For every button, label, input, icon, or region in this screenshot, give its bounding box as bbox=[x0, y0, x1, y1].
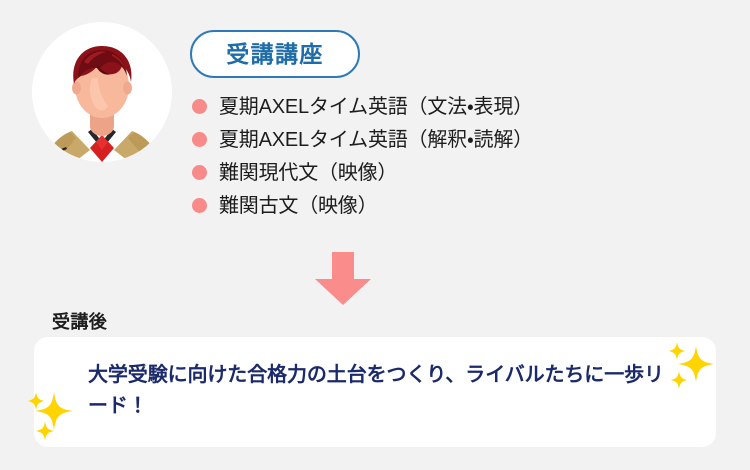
list-item: 夏期AXELタイム英語（文法・表現） bbox=[192, 90, 533, 123]
avatar-circle bbox=[32, 22, 172, 162]
list-item: 難関古文（映像） bbox=[192, 189, 533, 222]
section-badge: 受講講座 bbox=[190, 30, 360, 78]
sparkle-small-icon bbox=[28, 392, 44, 410]
course-label: 夏期AXELタイム英語（解釈・読解） bbox=[219, 130, 533, 150]
course-list: 夏期AXELタイム英語（文法・表現） 夏期AXELタイム英語（解釈・読解） 難関… bbox=[192, 90, 533, 222]
down-arrow-icon bbox=[313, 252, 373, 306]
bullet-dot-icon bbox=[192, 198, 207, 213]
after-card-text: 大学受験に向けた合格力の土台をつくり、ライバルたちに一歩リード！ bbox=[88, 360, 668, 422]
bullet-dot-icon bbox=[192, 99, 207, 114]
student-avatar-illustration bbox=[32, 22, 172, 162]
course-label: 夏期AXELタイム英語（文法・表現） bbox=[219, 97, 533, 117]
list-item: 夏期AXELタイム英語（解釈・読解） bbox=[192, 123, 533, 156]
avatar bbox=[32, 22, 172, 162]
infographic-root: 受講講座 夏期AXELタイム英語（文法・表現） 夏期AXELタイム英語（解釈・読… bbox=[0, 0, 750, 470]
sparkle-small-icon bbox=[36, 421, 54, 441]
section-badge-label: 受講講座 bbox=[226, 43, 324, 66]
after-section-label: 受講後 bbox=[52, 313, 107, 331]
sparkle-cluster-left bbox=[28, 388, 88, 448]
sparkle-small-icon bbox=[671, 371, 687, 389]
sparkle-small-icon bbox=[669, 342, 685, 360]
bullet-dot-icon bbox=[192, 132, 207, 147]
course-label: 難関現代文（映像） bbox=[219, 163, 397, 183]
sparkle-cluster-right bbox=[664, 340, 720, 396]
course-label: 難関古文（映像） bbox=[219, 196, 377, 216]
list-item: 難関現代文（映像） bbox=[192, 156, 533, 189]
bullet-dot-icon bbox=[192, 165, 207, 180]
sparkle-large-icon bbox=[35, 392, 73, 430]
